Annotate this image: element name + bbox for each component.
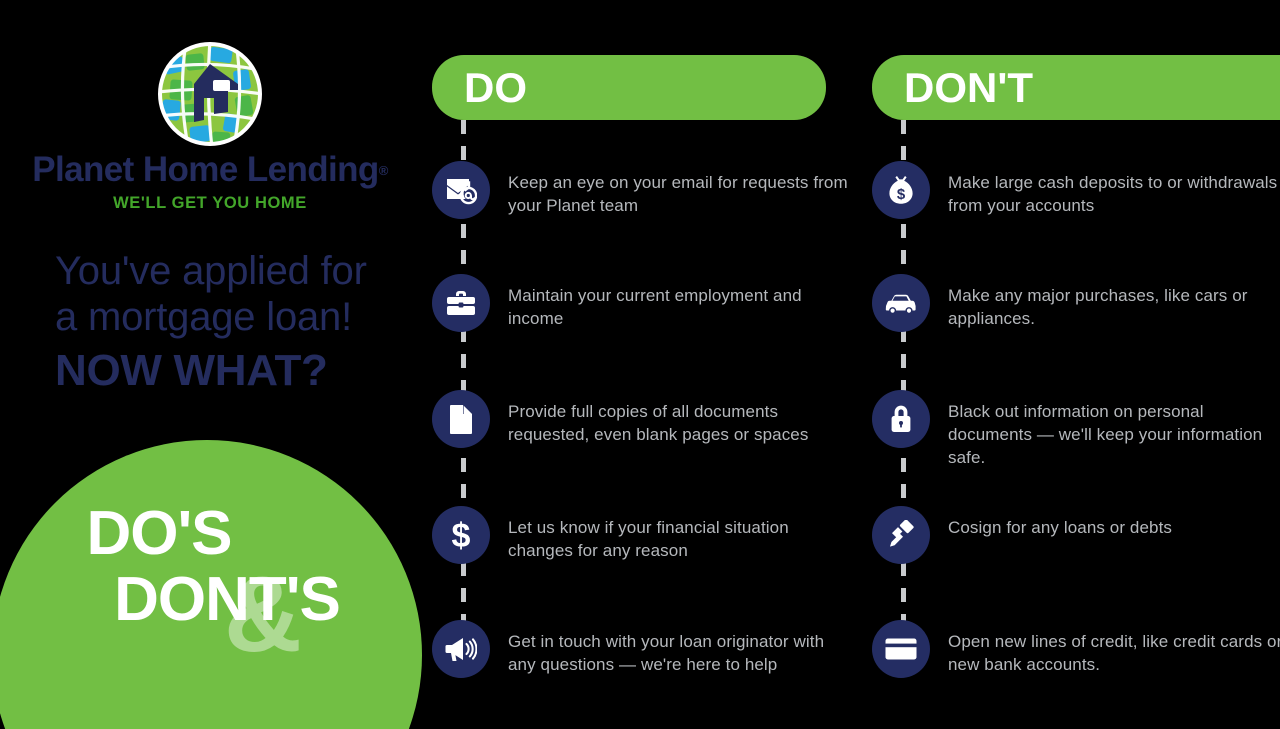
document-icon (432, 390, 490, 448)
registered-mark: ® (379, 164, 388, 177)
dont-list-item: Open new lines of credit, like credit ca… (872, 620, 1280, 678)
briefcase-icon (432, 274, 490, 332)
do-list-item: Keep an eye on your email for requests f… (432, 161, 852, 219)
do-list-item: Provide full copies of all documents req… (432, 390, 852, 448)
dollar-sign-icon: $ (432, 506, 490, 564)
badge-text-group: DO'S DONT'S & (0, 502, 422, 632)
headline-block: You've applied for a mortgage loan! NOW … (55, 248, 425, 398)
brand-name: Planet Home Lending (32, 152, 378, 187)
dont-list-item-text: Black out information on personal docume… (948, 390, 1280, 469)
dont-list-item: Black out information on personal docume… (872, 390, 1280, 469)
do-column-header: DO (432, 55, 826, 120)
left-panel: Planet Home Lending® WE'LL GET YOU HOME … (0, 0, 430, 729)
dont-list-item: Cosign for any loans or debts (872, 506, 1280, 564)
headline-line-3: NOW WHAT? (55, 344, 425, 398)
planet-globe-house-logo-icon (156, 40, 264, 148)
dont-list-item: $ Make large cash deposits to or withdra… (872, 161, 1280, 219)
email-at-icon (432, 161, 490, 219)
dont-column-header-label: DON'T (904, 67, 1033, 109)
do-list-item-text: Let us know if your financial situation … (508, 506, 852, 562)
do-list-item-text: Get in touch with your loan originator w… (508, 620, 852, 676)
do-list-item-text: Provide full copies of all documents req… (508, 390, 852, 446)
fountain-pen-icon (872, 506, 930, 564)
badge-line-donts: DONT'S (0, 568, 422, 632)
dont-list-item-text: Make large cash deposits to or withdrawa… (948, 161, 1280, 217)
dont-list-item: Make any major purchases, like cars or a… (872, 274, 1280, 332)
brand-logo-block: Planet Home Lending® WE'LL GET YOU HOME (0, 40, 420, 213)
money-bag-icon: $ (872, 161, 930, 219)
brand-tagline: WE'LL GET YOU HOME (0, 194, 420, 213)
do-list-item: Maintain your current employment and inc… (432, 274, 852, 332)
svg-text:$: $ (452, 517, 471, 553)
dont-list-item-text: Cosign for any loans or debts (948, 506, 1280, 539)
infographic-canvas: Planet Home Lending® WE'LL GET YOU HOME … (0, 0, 1280, 729)
lock-icon (872, 390, 930, 448)
do-column: DO Keep an eye on your email for request… (432, 0, 852, 729)
do-list-item: $ Let us know if your financial situatio… (432, 506, 852, 564)
dont-list-item-text: Make any major purchases, like cars or a… (948, 274, 1280, 330)
svg-text:$: $ (897, 186, 906, 203)
badge-line-dos: DO'S (0, 502, 422, 566)
dont-column: DON'T $ Make large cash deposits to or w… (872, 0, 1280, 729)
megaphone-icon (432, 620, 490, 678)
do-list-item-text: Maintain your current employment and inc… (508, 274, 852, 330)
headline-line-1: You've applied for (55, 248, 425, 294)
dont-column-header: DON'T (872, 55, 1280, 120)
dont-list-item-text: Open new lines of credit, like credit ca… (948, 620, 1280, 676)
badge-ampersand: & (224, 560, 302, 668)
car-icon (872, 274, 930, 332)
headline-line-2: a mortgage loan! (55, 294, 425, 340)
do-list-item: Get in touch with your loan originator w… (432, 620, 852, 678)
credit-card-icon (872, 620, 930, 678)
do-list-item-text: Keep an eye on your email for requests f… (508, 161, 852, 217)
do-column-header-label: DO (464, 67, 527, 109)
dos-and-donts-badge: DO'S DONT'S & (0, 440, 422, 729)
